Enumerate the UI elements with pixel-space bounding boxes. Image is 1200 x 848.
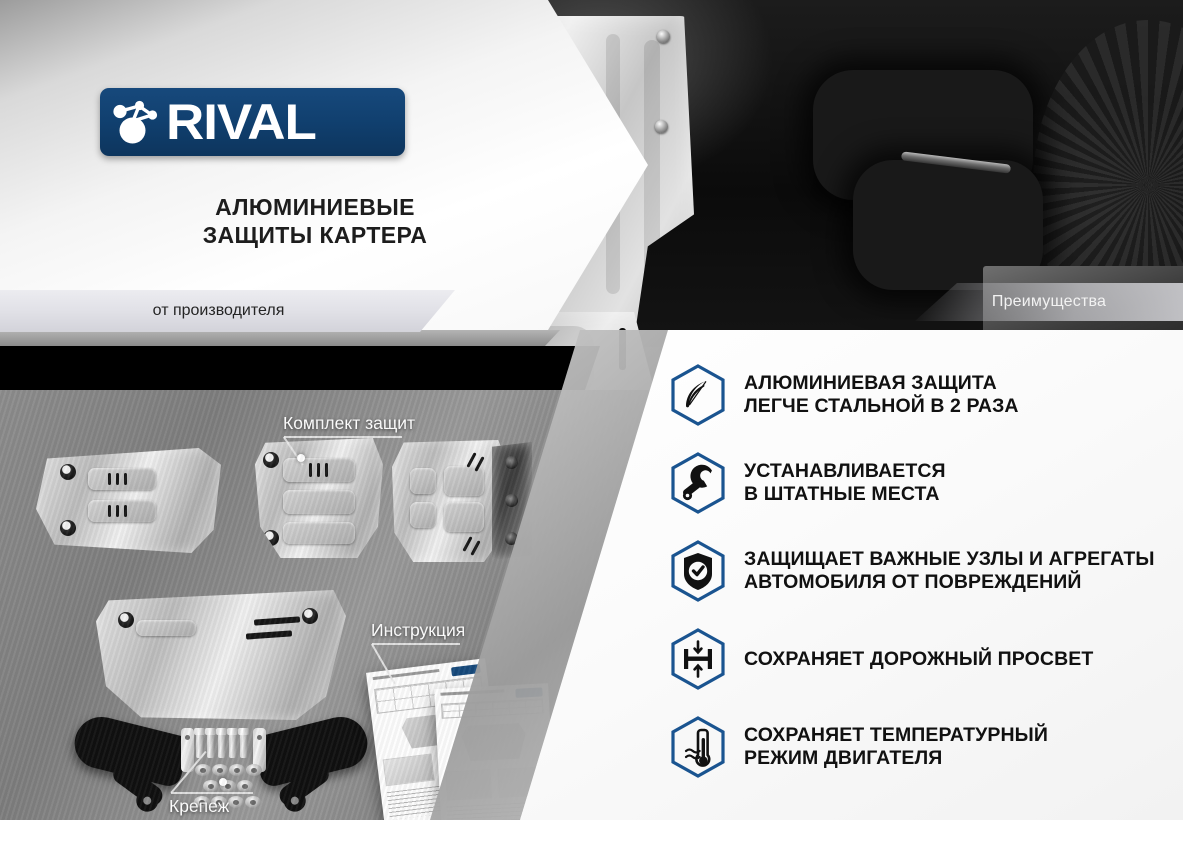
left-black-separator xyxy=(0,346,600,390)
shield-check-icon xyxy=(670,540,726,602)
benefit-line-2: РЕЖИМ ДВИГАТЕЛЯ xyxy=(744,747,1048,770)
benefit-label: ЗАЩИЩАЕТ ВАЖНЫЕ УЗЛЫ И АГРЕГАТЫ АВТОМОБИ… xyxy=(744,548,1155,594)
skid-plate-right xyxy=(392,440,510,562)
advantages-tab-label: Преимущества xyxy=(992,293,1106,311)
advantages-tab: Преимущества xyxy=(915,283,1183,321)
benefit-label: УСТАНАВЛИВАЕТСЯ В ШТАТНЫЕ МЕСТА xyxy=(744,460,946,506)
header-panel: RIVAL АЛЮМИНИЕВЫЕ ЗАЩИТЫ КАРТЕРА xyxy=(0,0,648,330)
hardware-leader-dot xyxy=(219,778,227,786)
benefit-line-1: УСТАНАВЛИВАЕТСЯ xyxy=(744,460,946,483)
skid-plate-left xyxy=(36,448,221,553)
page-title-line-1: АЛЮМИНИЕВЫЕ xyxy=(100,193,530,221)
benefit-row: СОХРАНЯЕТ ДОРОЖНЫЙ ПРОСВЕТ xyxy=(670,628,1170,690)
benefit-line-2: ЛЕГЧЕ СТАЛЬНОЙ В 2 РАЗА xyxy=(744,395,1019,418)
callout-instruction: Инструкция xyxy=(371,620,465,641)
ground-clearance-icon xyxy=(670,628,726,690)
mounting-bracket-right xyxy=(251,711,372,789)
hardware-leader-line xyxy=(171,792,253,794)
left-grey-separator xyxy=(0,330,560,346)
benefit-line-2: В ШТАТНЫЕ МЕСТА xyxy=(744,483,946,506)
benefit-row: АЛЮМИНИЕВАЯ ЗАЩИТА ЛЕГЧЕ СТАЛЬНОЙ В 2 РА… xyxy=(670,364,1170,426)
hardware-leader-line-2 xyxy=(170,751,206,793)
thermometer-icon xyxy=(670,716,726,778)
callout-kit: Комплект защит xyxy=(283,413,415,434)
subtitle-band: от производителя xyxy=(0,290,455,332)
benefit-label: АЛЮМИНИЕВАЯ ЗАЩИТА ЛЕГЧЕ СТАЛЬНОЙ В 2 РА… xyxy=(744,372,1019,418)
benefit-row: СОХРАНЯЕТ ТЕМПЕРАТУРНЫЙ РЕЖИМ ДВИГАТЕЛЯ xyxy=(670,716,1170,778)
kit-leader-line xyxy=(284,436,402,438)
kit-leader-line-2 xyxy=(283,436,303,465)
molecule-icon xyxy=(106,94,168,150)
page-title-line-2: ЗАЩИТЫ КАРТЕРА xyxy=(100,221,530,249)
benefit-line-1: СОХРАНЯЕТ ДОРОЖНЫЙ ПРОСВЕТ xyxy=(744,648,1093,671)
benefits-list: АЛЮМИНИЕВАЯ ЗАЩИТА ЛЕГЧЕ СТАЛЬНОЙ В 2 РА… xyxy=(670,364,1170,804)
skid-plate-foreground xyxy=(96,590,346,720)
benefit-line-1: АЛЮМИНИЕВАЯ ЗАЩИТА xyxy=(744,372,1019,395)
rival-logo: RIVAL xyxy=(100,88,405,156)
wrench-icon xyxy=(670,452,726,514)
benefit-label: СОХРАНЯЕТ ДОРОЖНЫЙ ПРОСВЕТ xyxy=(744,648,1093,671)
subtitle-text: от производителя xyxy=(153,302,285,320)
poster-root: Преимущества xyxy=(0,0,1200,848)
poster-canvas: Преимущества xyxy=(0,0,1183,820)
benefit-line-2: АВТОМОБИЛЯ ОТ ПОВРЕЖДЕНИЙ xyxy=(744,571,1155,594)
benefit-label: СОХРАНЯЕТ ТЕМПЕРАТУРНЫЙ РЕЖИМ ДВИГАТЕЛЯ xyxy=(744,724,1048,770)
page-title: АЛЮМИНИЕВЫЕ ЗАЩИТЫ КАРТЕРА xyxy=(100,193,530,249)
callout-hardware: Крепеж xyxy=(169,796,229,817)
benefit-row: УСТАНАВЛИВАЕТСЯ В ШТАТНЫЕ МЕСТА xyxy=(670,452,1170,514)
benefit-line-1: СОХРАНЯЕТ ТЕМПЕРАТУРНЫЙ xyxy=(744,724,1048,747)
leaf-icon xyxy=(670,364,726,426)
skid-plate-center xyxy=(255,438,383,558)
benefit-line-1: ЗАЩИЩАЕТ ВАЖНЫЕ УЗЛЫ И АГРЕГАТЫ xyxy=(744,548,1155,571)
instruction-leader-line-2 xyxy=(371,643,395,684)
benefit-row: ЗАЩИЩАЕТ ВАЖНЫЕ УЗЛЫ И АГРЕГАТЫ АВТОМОБИ… xyxy=(670,540,1170,602)
instruction-leader-line xyxy=(372,643,460,645)
rival-wordmark: RIVAL xyxy=(166,93,316,151)
kit-leader-dot xyxy=(297,454,305,462)
mounting-bracket-left xyxy=(69,711,190,789)
